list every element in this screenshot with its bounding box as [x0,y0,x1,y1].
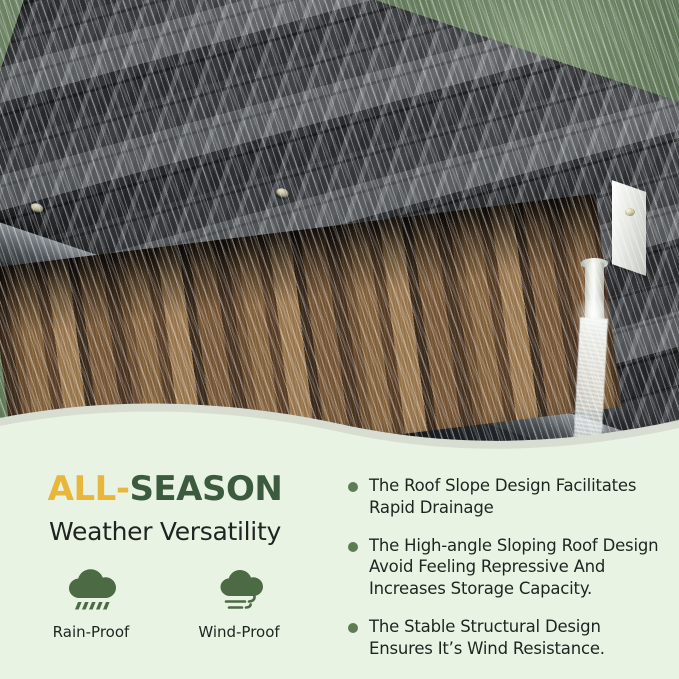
feature-list: The Roof Slope Design Facilitates Rapid … [340,455,679,679]
left-column: ALL-SEASON Weather Versatility [0,455,330,679]
headline-green: SEASON [129,469,282,509]
product-photo [0,0,679,470]
badge-label: Rain-Proof [39,623,143,641]
list-item: The Stable Structural Design Ensures It’… [348,616,667,660]
feature-badges: Rain-Proof Wind-Proof [0,568,330,641]
list-item: The Roof Slope Design Facilitates Rapid … [348,475,667,519]
list-item-text: The High-angle Sloping Roof Design Avoid… [369,535,667,600]
list-item-text: The Stable Structural Design Ensures It’… [369,616,667,660]
headline-amber: ALL- [48,469,130,509]
list-item-text: The Roof Slope Design Facilitates Rapid … [369,475,667,519]
list-item: The High-angle Sloping Roof Design Avoid… [348,535,667,600]
bracket-screw [625,208,635,216]
badge-label: Wind-Proof [187,623,291,641]
bullet-dot-icon [348,623,358,633]
page-title: ALL-SEASON [0,472,330,506]
roof-corner-bracket [612,180,646,276]
badge-wind-proof: Wind-Proof [187,568,291,641]
rain-cloud-icon [63,568,119,614]
bullet-dot-icon [348,542,358,552]
bullet-dot-icon [348,482,358,492]
content-area: ALL-SEASON Weather Versatility [0,455,679,679]
badge-rain-proof: Rain-Proof [39,568,143,641]
page-subtitle: Weather Versatility [0,517,330,546]
marketing-banner: ALL-SEASON Weather Versatility [0,0,679,679]
wind-cloud-icon [211,568,267,614]
